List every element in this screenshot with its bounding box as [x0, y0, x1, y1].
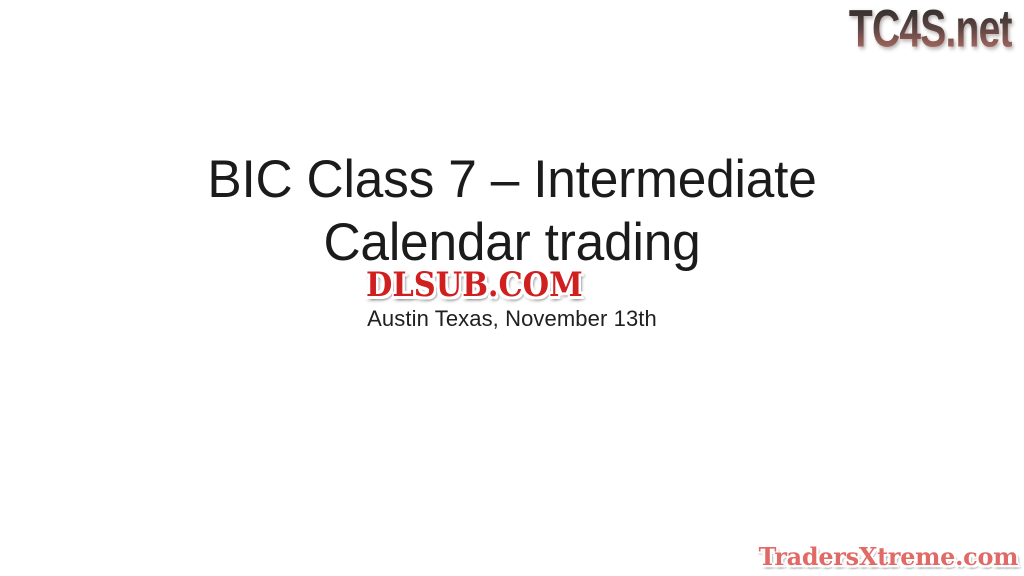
- tc4s-watermark: TC4S.net: [803, 2, 1012, 52]
- tradersxtreme-watermark-text: TradersXtreme.com: [758, 545, 1018, 570]
- slide-title: BIC Class 7 – Intermediate Calendar trad…: [0, 148, 1024, 274]
- dlsub-watermark-text: DLSUB.COM: [366, 268, 583, 301]
- slide-subtitle: Austin Texas, November 13th: [0, 305, 1024, 333]
- dlsub-watermark: DLSUB.COM: [366, 268, 637, 306]
- slide-title-line-1: BIC Class 7 – Intermediate: [15, 148, 1008, 211]
- tc4s-watermark-text: TC4S.net: [849, 2, 1012, 55]
- tradersxtreme-watermark: TradersXtreme.com: [736, 544, 1018, 570]
- presentation-slide: TC4S.net BIC Class 7 – Intermediate Cale…: [0, 0, 1024, 576]
